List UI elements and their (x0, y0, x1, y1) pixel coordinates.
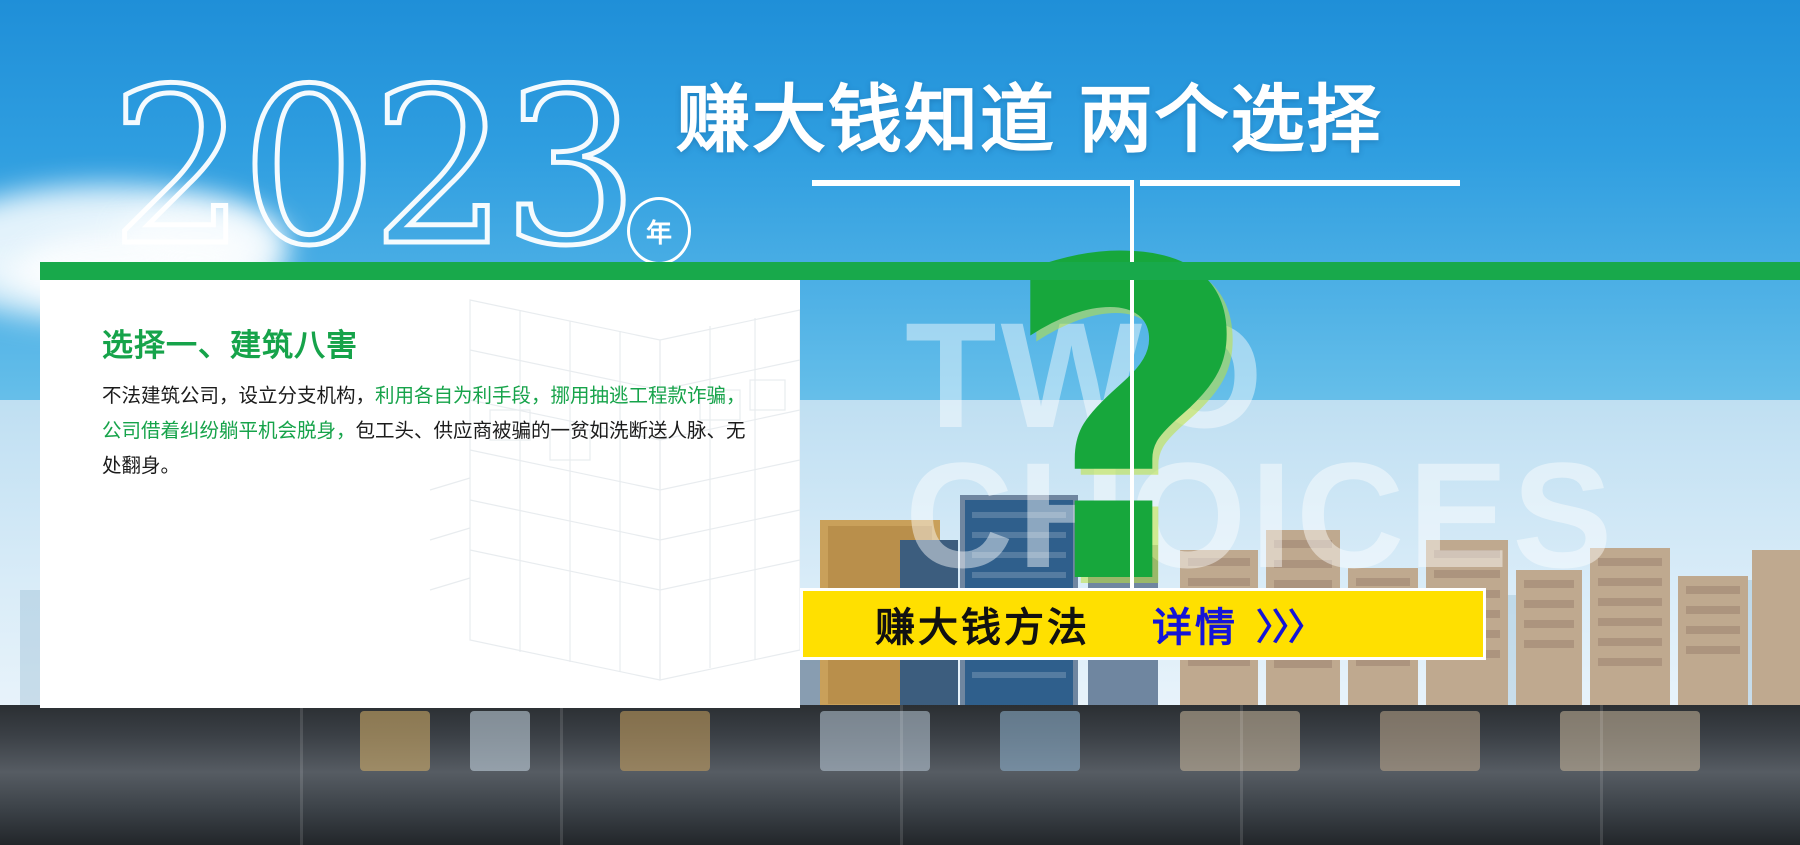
divider-rule-right (1140, 180, 1460, 186)
divider-rule-vertical (1130, 180, 1134, 610)
text-run-green: 利用各自为利手段，挪用抽逃工程款 (375, 385, 687, 407)
section-body-1: 不法建筑公司，设立分支机构，利用各自为利手段，挪用抽逃工程款诈骗，公司借着纠纷躺… (102, 379, 764, 484)
section-title-1: 选择一、建筑八害 (102, 320, 764, 365)
content-card: 选择一、建筑八害 不法建筑公司，设立分支机构，利用各自为利手段，挪用抽逃工程款诈… (40, 280, 800, 708)
divider-rule-left (812, 180, 1132, 186)
year-unit-badge: 年 (627, 197, 691, 265)
chevron-right-icon: 〉〉〉 (1256, 598, 1322, 650)
text-run: 包工头、供应商被骗的一贫如洗 (356, 420, 629, 442)
green-accent-bar (40, 262, 1800, 280)
poster-root: TWO CHOICES ? 2023 年 赚大钱知道 两个选择 (0, 0, 1800, 845)
cta-banner[interactable]: 赚大钱方法 详情 〉〉〉 (800, 588, 1486, 660)
text-run: 不法建筑公司，设立分支机构， (102, 385, 375, 407)
page-title: 赚大钱知道 两个选择 (676, 78, 1383, 162)
cta-link-details[interactable]: 详情 (1152, 595, 1238, 653)
green-accent-edge (1620, 262, 1800, 280)
year-number: 2023 (110, 60, 633, 275)
cta-label-main: 赚大钱方法 (875, 595, 1090, 653)
waterfront-reflection (0, 705, 1800, 845)
